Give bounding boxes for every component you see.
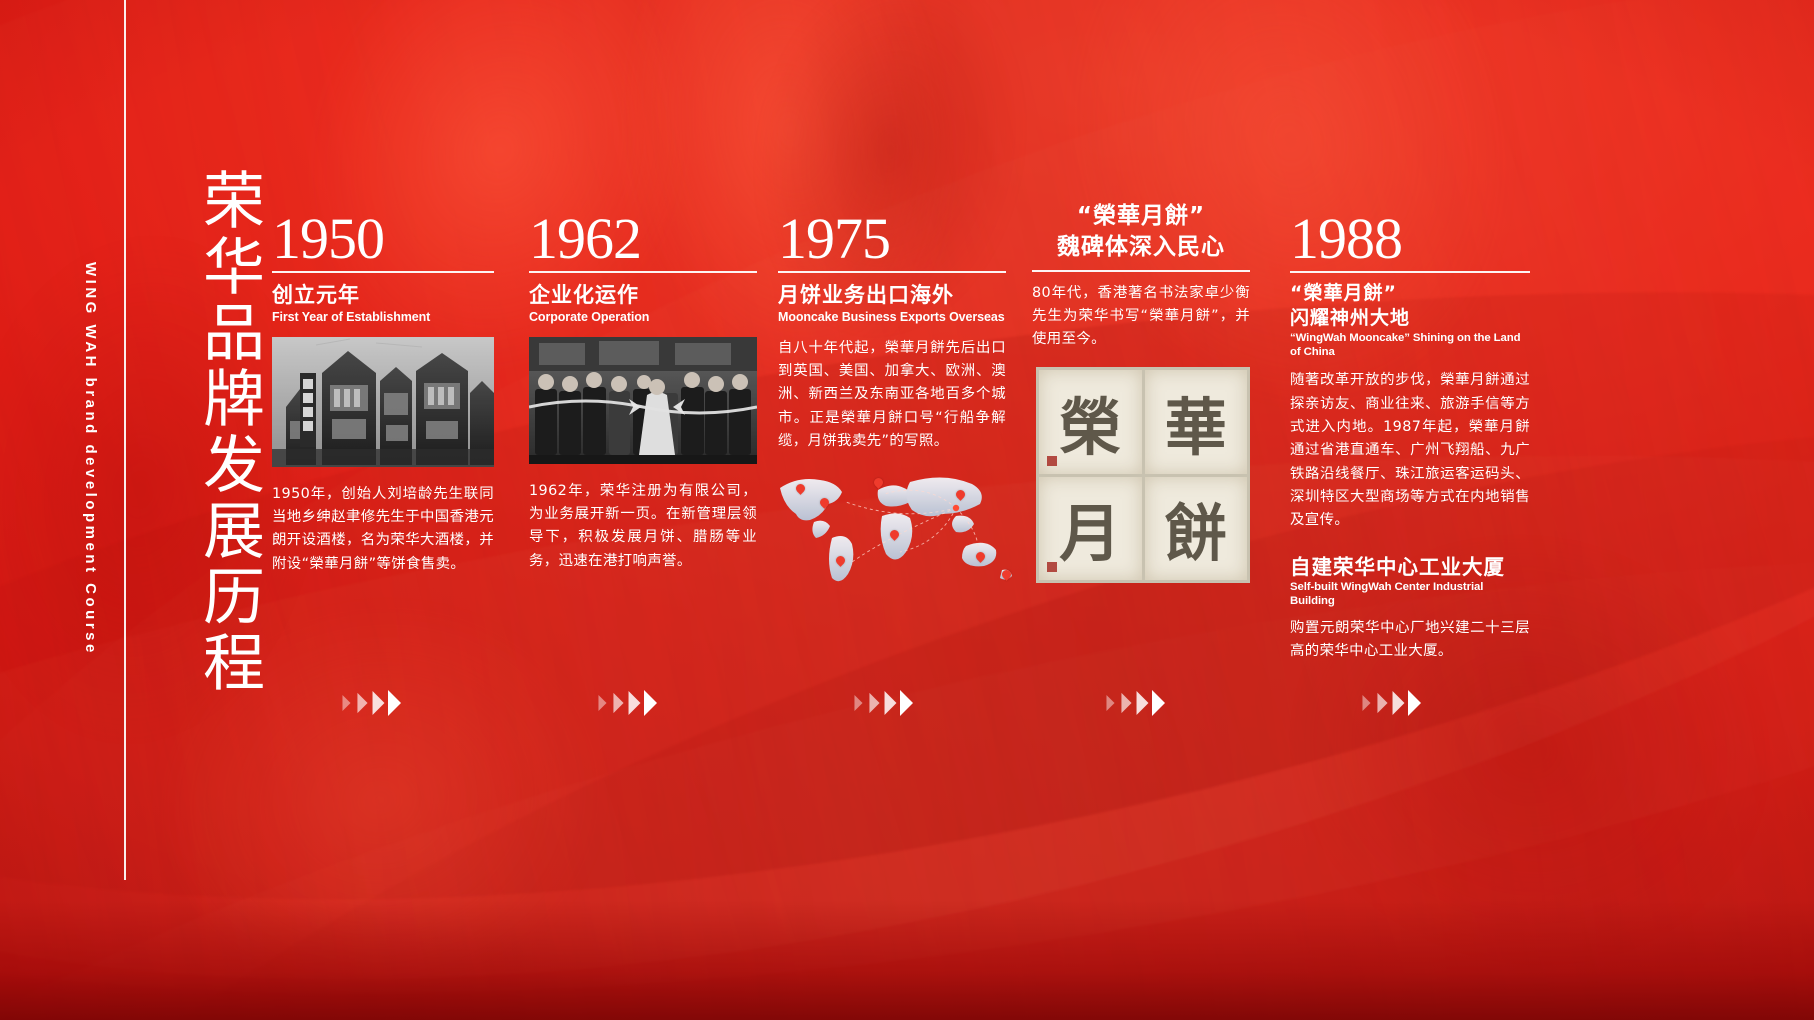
year-underline [529, 271, 757, 273]
world-map-graphic [770, 460, 1020, 590]
chevron-right-icon [388, 690, 401, 716]
page-title-chinese: 荣华品牌发展历程 [140, 168, 260, 696]
calligraphy-underline [1032, 270, 1250, 272]
heading-english-1962: Corporate Operation [529, 310, 757, 325]
chevron-right-icon [342, 695, 350, 711]
body-text-1975: 自八十年代起，榮華月餅先后出口到英国、美国、加拿大、欧洲、澳洲、新西兰及东南亚各… [778, 337, 1006, 454]
body-text-calligraphy: 80年代，香港著名书法家卓少衡先生为荣华书写“榮華月餅”，并使用至今。 [1032, 282, 1250, 352]
year-label-1988: 1988 [1290, 212, 1530, 265]
heading-chinese-1975: 月饼业务出口海外 [778, 282, 1006, 308]
year-label-1962: 1962 [529, 212, 757, 265]
chevron-right-icon [357, 693, 367, 713]
photo-1950-illustration [272, 337, 494, 467]
calligraphy-image-grid: 榮 華 月 餅 [1036, 367, 1250, 583]
chevron-right-icon [885, 691, 897, 715]
title-divider-left [124, 0, 126, 880]
body-text-1962: 1962年，荣华注册为有限公司，为业务展开新一页。在新管理层领导下，积极发展月饼… [529, 480, 757, 573]
calligraphy-cell-hua: 華 [1145, 370, 1248, 474]
year-underline [1290, 271, 1530, 273]
chevron-right-icon [1377, 693, 1387, 713]
chevron-right-icon [1121, 693, 1131, 713]
timeline-column-1988: 1988 “榮華月餅” 闪耀神州大地 “WingWah Mooncake” Sh… [1290, 212, 1530, 663]
historical-photo-1962 [529, 337, 757, 464]
timeline-column-calligraphy: “榮華月餅” 魏碑体深入民心 80年代，香港著名书法家卓少衡先生为荣华书写“榮華… [1032, 202, 1250, 351]
progress-arrows-5 [1360, 690, 1421, 716]
chevron-right-icon [854, 695, 862, 711]
timeline-column-1975: 1975 月饼业务出口海外 Mooncake Business Exports … [778, 212, 1006, 453]
seal-stamp-icon [1047, 562, 1057, 572]
heading-english-1975: Mooncake Business Exports Overseas [778, 310, 1006, 325]
chevron-right-icon [1152, 690, 1165, 716]
progress-arrows-3 [852, 690, 913, 716]
body-text-1950: 1950年，创始人刘培龄先生联同当地乡绅赵聿修先生于中国香港元朗开设酒楼，名为荣… [272, 483, 494, 576]
timeline-column-1950: 1950 创立元年 First Year of Establishment [272, 212, 494, 576]
chevron-right-icon [1408, 690, 1421, 716]
heading-chinese-calligraphy-line1: “榮華月餅” [1032, 202, 1250, 231]
heading-chinese-1988-line2: 闪耀神州大地 [1290, 307, 1530, 331]
calligraphy-cell-bing: 餅 [1145, 477, 1248, 581]
body-text-1988: 随著改革开放的步伐，榮華月餅通过探亲访友、商业往来、旅游手信等方式进入内地。19… [1290, 369, 1530, 532]
heading-chinese-1950: 创立元年 [272, 282, 494, 308]
heading-english-1950: First Year of Establishment [272, 310, 494, 325]
chevron-right-icon [1137, 691, 1149, 715]
seal-stamp-icon [1047, 456, 1057, 466]
heading-chinese-1988-line1: “榮華月餅” [1290, 282, 1530, 306]
historical-photo-1950 [272, 337, 494, 467]
calligraphy-cell-yue: 月 [1039, 477, 1142, 581]
calligraphy-char-4: 餅 [1165, 483, 1227, 573]
progress-arrows-1 [340, 690, 401, 716]
chevron-right-icon [629, 691, 641, 715]
progress-arrows-4 [1104, 690, 1165, 716]
chevron-right-icon [1106, 695, 1114, 711]
year-underline [778, 271, 1006, 273]
world-map-svg [770, 460, 1020, 590]
page-title-english: WING WAH brand development Course [82, 262, 99, 656]
calligraphy-char-2: 華 [1165, 377, 1227, 467]
sub-heading-english-1988: Self-built WingWah Center Industrial Bui… [1290, 581, 1530, 608]
sub-heading-chinese-1988: 自建荣华中心工业大厦 [1290, 555, 1530, 581]
chevron-right-icon [644, 690, 657, 716]
background-bottom-fade [0, 900, 1814, 1020]
sub-body-text-1988: 购置元朗荣华中心厂地兴建二十三层高的荣华中心工业大厦。 [1290, 617, 1530, 664]
chevron-right-icon [373, 691, 385, 715]
heading-english-1988: “WingWah Mooncake” Shining on the Land o… [1290, 332, 1530, 359]
chevron-right-icon [1362, 695, 1370, 711]
poster-canvas: 荣华品牌发展历程 WING WAH brand development Cour… [0, 0, 1814, 1020]
chevron-right-icon [1393, 691, 1405, 715]
calligraphy-char-3: 月 [1059, 483, 1121, 573]
chevron-right-icon [598, 695, 606, 711]
year-underline [272, 271, 494, 273]
year-label-1950: 1950 [272, 212, 494, 265]
photo-1962-illustration [529, 337, 757, 464]
year-label-1975: 1975 [778, 212, 1006, 265]
chevron-right-icon [900, 690, 913, 716]
timeline-column-1962: 1962 企业化运作 Corporate Operation [529, 212, 757, 573]
heading-chinese-1962: 企业化运作 [529, 282, 757, 308]
calligraphy-cell-rong: 榮 [1039, 370, 1142, 474]
chevron-right-icon [869, 693, 879, 713]
progress-arrows-2 [596, 690, 657, 716]
heading-chinese-calligraphy-line2: 魏碑体深入民心 [1032, 233, 1250, 262]
chevron-right-icon [613, 693, 623, 713]
calligraphy-char-1: 榮 [1059, 377, 1121, 467]
